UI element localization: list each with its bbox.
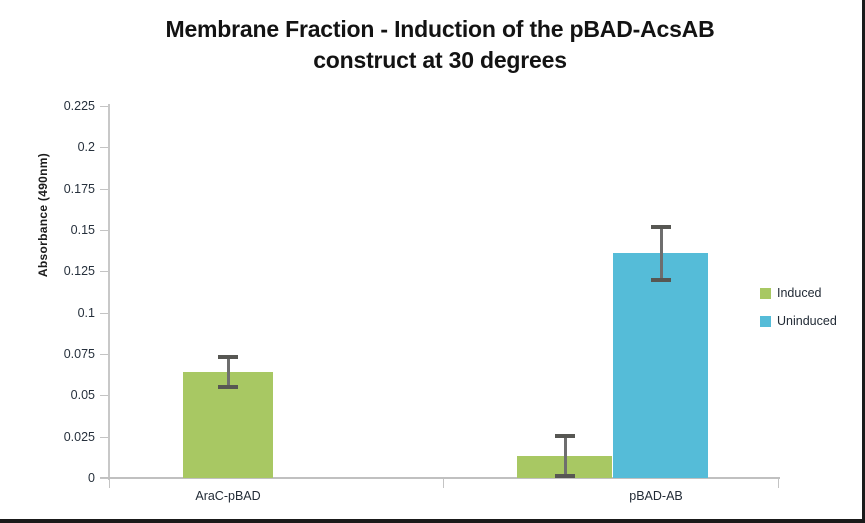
y-axis-tick-mark bbox=[100, 354, 108, 355]
chart-title: Membrane Fraction - Induction of the pBA… bbox=[60, 14, 820, 76]
x-axis-label-pbad-ab: pBAD-AB bbox=[629, 489, 683, 503]
y-axis-tick-mark bbox=[100, 395, 108, 396]
legend-label: Uninduced bbox=[777, 314, 837, 328]
y-axis-tick-mark bbox=[100, 189, 108, 190]
chart-title-line-1: Membrane Fraction - Induction of the pBA… bbox=[165, 16, 714, 42]
x-axis-label-arac-pbad: AraC-pBAD bbox=[195, 489, 260, 503]
chart-figure: Membrane Fraction - Induction of the pBA… bbox=[0, 0, 865, 523]
y-axis-tick-label: 0.1 bbox=[78, 306, 95, 320]
y-axis-tick-label: 0.125 bbox=[64, 264, 95, 278]
chart-title-line-2: construct at 30 degrees bbox=[313, 47, 567, 73]
y-axis-tick-label: 0.15 bbox=[71, 223, 95, 237]
y-axis-tick-mark bbox=[100, 106, 108, 107]
y-axis-tick-label: 0.225 bbox=[64, 99, 95, 113]
y-axis-tick-label: 0.025 bbox=[64, 430, 95, 444]
y-axis-tick-label: 0.05 bbox=[71, 388, 95, 402]
chart-legend: InducedUninduced bbox=[760, 279, 837, 335]
y-axis-tick-mark bbox=[100, 478, 108, 479]
x-axis-separator bbox=[109, 479, 110, 488]
x-axis-separator bbox=[778, 479, 779, 488]
y-axis-tick-label: 0 bbox=[88, 471, 95, 485]
legend-item-uninduced[interactable]: Uninduced bbox=[760, 307, 837, 335]
error-bar-stem bbox=[564, 436, 567, 476]
error-bar-cap-upper bbox=[651, 225, 671, 229]
legend-label: Induced bbox=[777, 286, 821, 300]
error-bar-cap-lower bbox=[218, 385, 238, 389]
y-axis-title: Absorbance (490nm) bbox=[36, 120, 50, 310]
legend-swatch-icon bbox=[760, 316, 771, 327]
error-bar-stem bbox=[660, 227, 663, 280]
legend-swatch-icon bbox=[760, 288, 771, 299]
y-axis-tick-mark bbox=[100, 147, 108, 148]
error-bar-cap-lower bbox=[555, 474, 575, 478]
y-axis-tick-label: 0.175 bbox=[64, 182, 95, 196]
error-bar-cap-upper bbox=[218, 355, 238, 359]
error-bar-stem bbox=[227, 357, 230, 387]
bar-uninduced-pbad-ab bbox=[613, 253, 708, 478]
y-axis-tick-mark bbox=[100, 313, 108, 314]
error-bar-cap-lower bbox=[651, 278, 671, 282]
y-axis-tick-mark bbox=[100, 271, 108, 272]
plot-area: 00.0250.050.0750.10.1250.150.1750.20.225 bbox=[109, 106, 778, 478]
legend-item-induced[interactable]: Induced bbox=[760, 279, 837, 307]
y-axis-tick-label: 0.075 bbox=[64, 347, 95, 361]
error-bar-cap-upper bbox=[555, 434, 575, 438]
x-axis-separator bbox=[443, 479, 444, 488]
y-axis-tick-mark bbox=[100, 230, 108, 231]
y-axis-tick-label: 0.2 bbox=[78, 140, 95, 154]
y-axis-tick-mark bbox=[100, 437, 108, 438]
